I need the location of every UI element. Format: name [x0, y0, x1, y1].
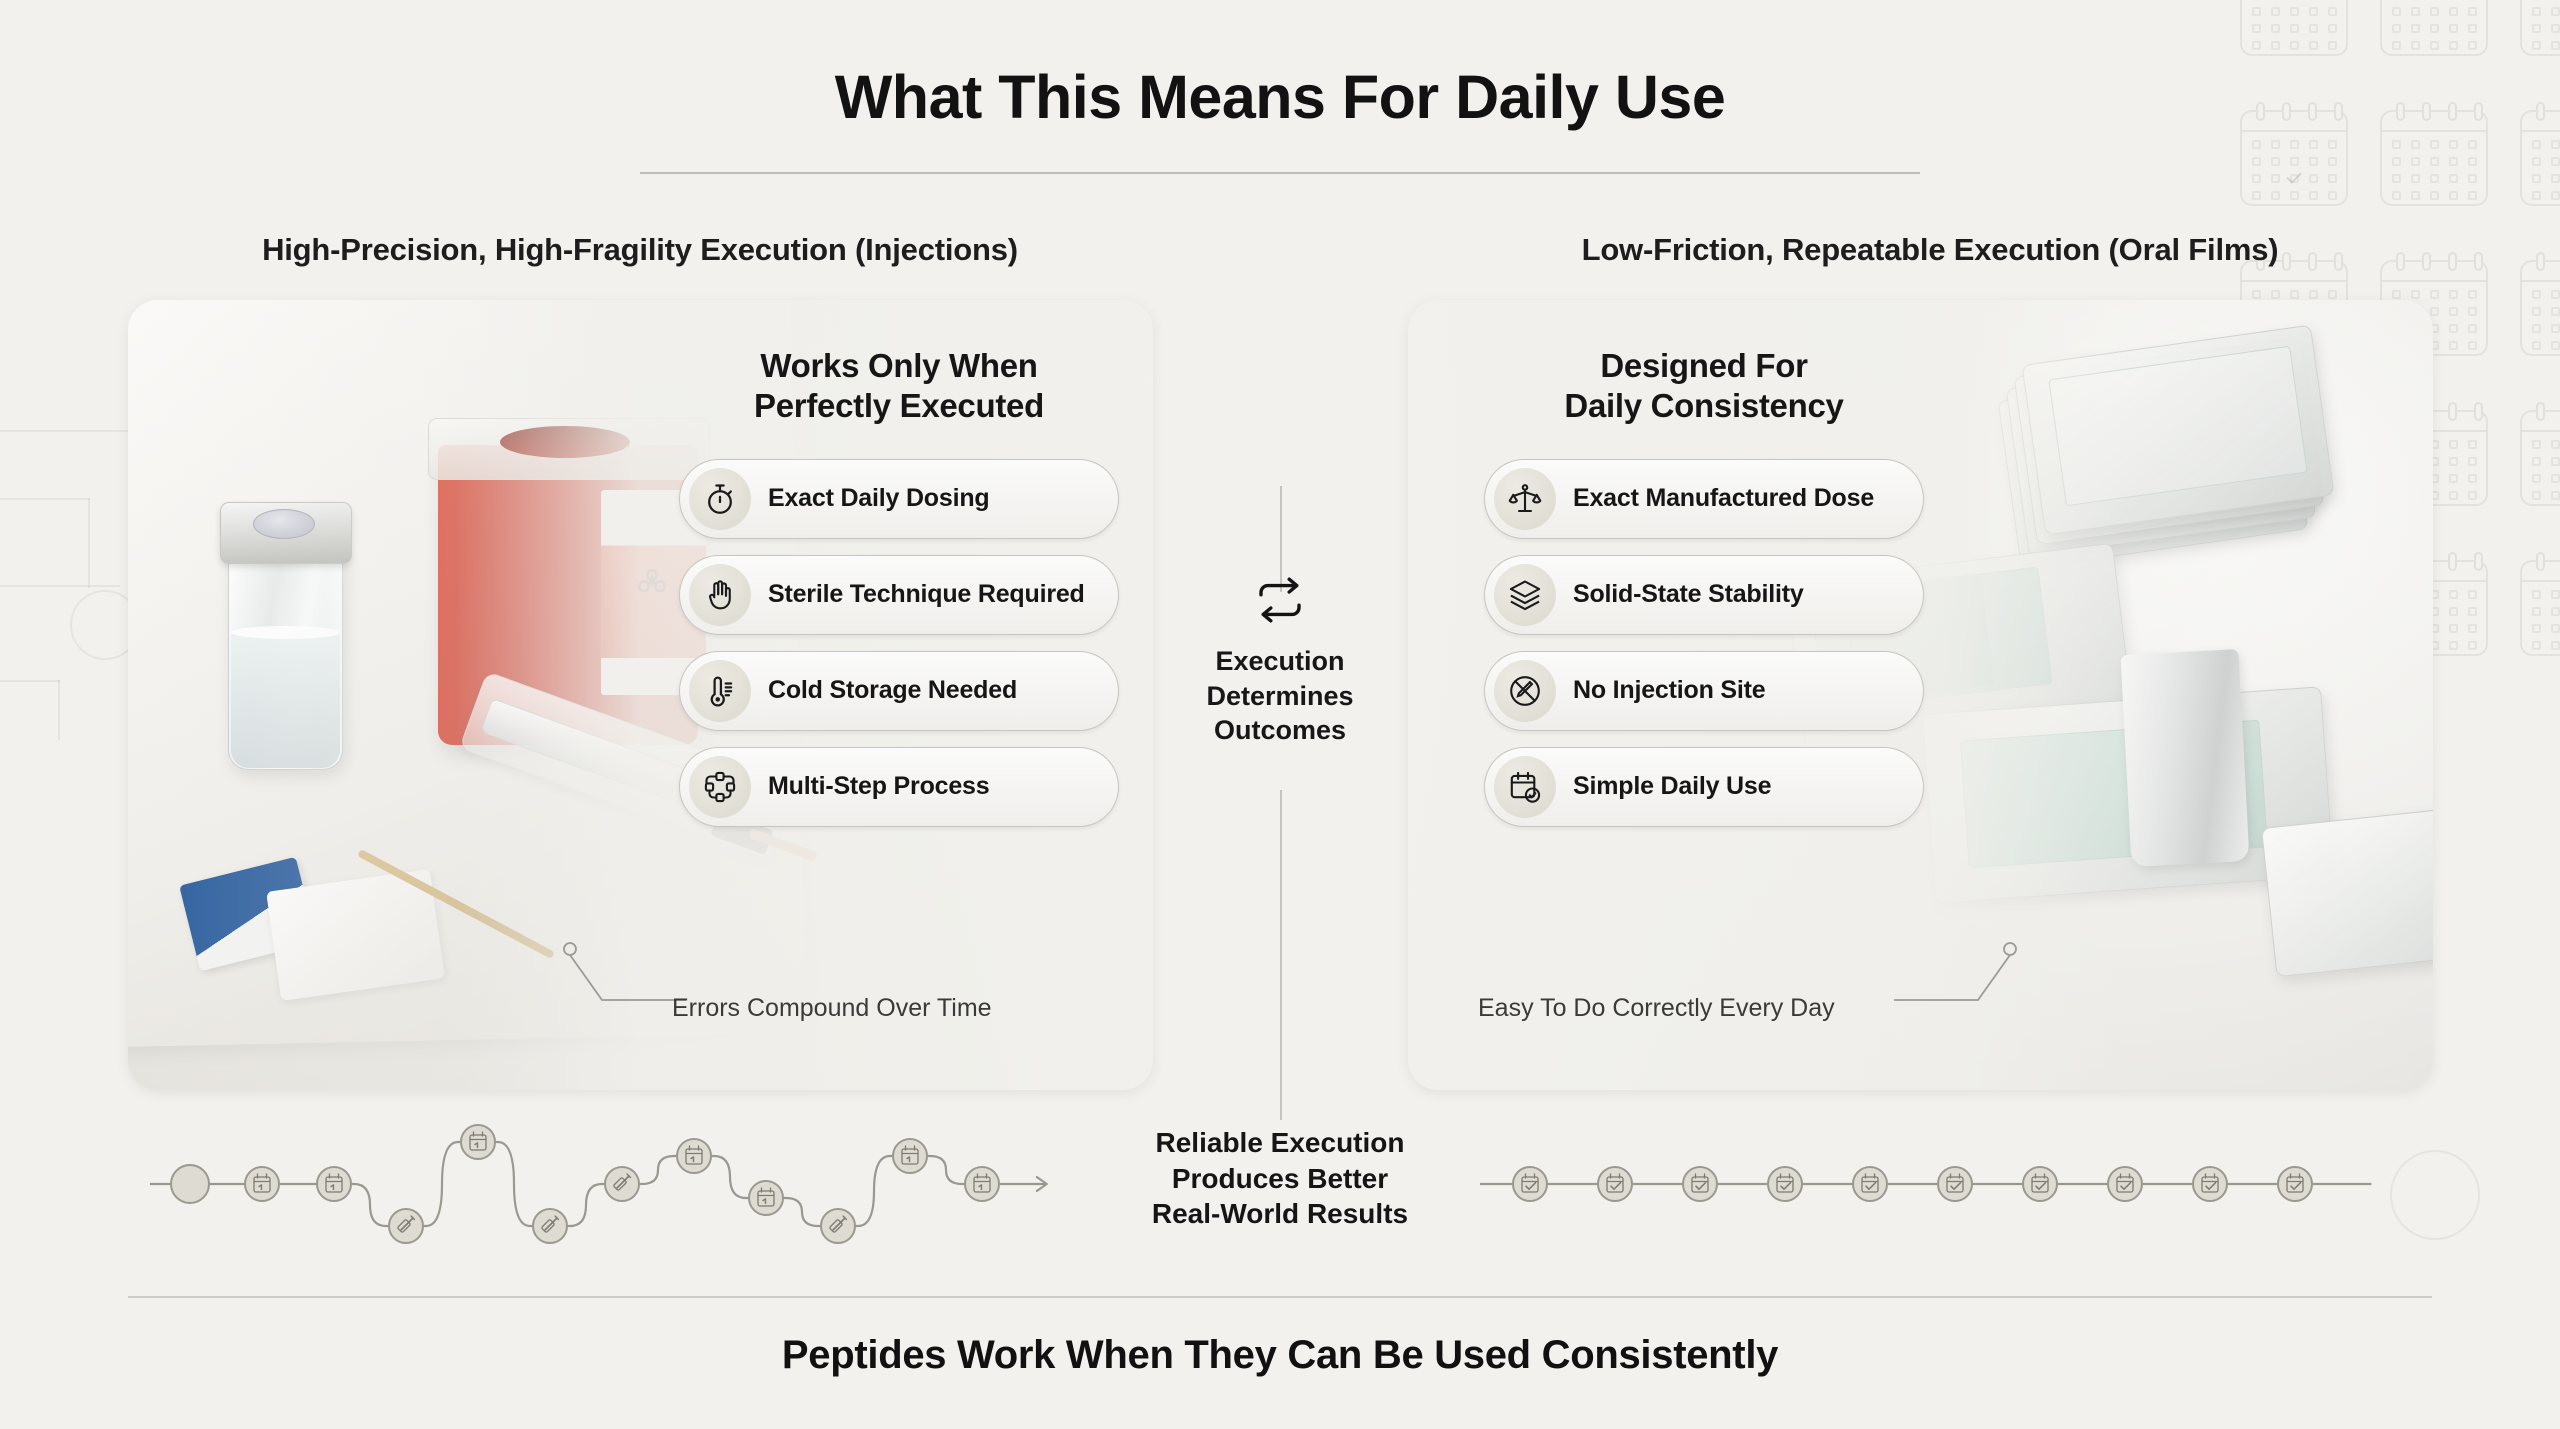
timeline-node[interactable]: [461, 1125, 495, 1159]
stopwatch-icon: [689, 468, 751, 530]
left-card-title-line2: Perfectly Executed: [679, 386, 1119, 426]
right-item-simple-daily-use[interactable]: Simple Daily Use: [1484, 747, 1924, 827]
timeline-node[interactable]: [1853, 1167, 1887, 1201]
left-timeline: [150, 1100, 1100, 1280]
layers-icon: [1494, 564, 1556, 626]
scales-icon: [1494, 468, 1556, 530]
right-item-label: Solid-State Stability: [1573, 580, 1804, 610]
watermark-calendar-icon: [2240, 0, 2348, 56]
title-divider-rule: [640, 172, 1920, 174]
right-panel-content: Designed For Daily Consistency Exact Man…: [1484, 346, 1924, 843]
timeline-node[interactable]: [893, 1139, 927, 1173]
left-item-exact-daily-dosing[interactable]: Exact Daily Dosing: [679, 459, 1119, 539]
left-item-sterile-technique[interactable]: Sterile Technique Required: [679, 555, 1119, 635]
center-line-1: Execution: [1160, 644, 1400, 679]
timeline-node[interactable]: [2278, 1167, 2312, 1201]
timeline-node[interactable]: [1768, 1167, 1802, 1201]
timeline-node[interactable]: [317, 1167, 351, 1201]
timeline-node[interactable]: [171, 1165, 209, 1203]
left-card-title: Works Only When Perfectly Executed: [679, 346, 1119, 427]
timeline-node[interactable]: [2023, 1167, 2057, 1201]
timeline-center-line-1: Reliable Execution: [1085, 1125, 1475, 1161]
right-panel-caption: Easy To Do Correctly Every Day: [1478, 994, 1835, 1023]
left-panel-caption: Errors Compound Over Time: [672, 994, 992, 1023]
timeline-node[interactable]: [389, 1209, 423, 1243]
left-column-heading: High-Precision, High-Fragility Execution…: [130, 232, 1150, 268]
right-item-label: Exact Manufactured Dose: [1573, 484, 1874, 514]
left-item-multi-step-process[interactable]: Multi-Step Process: [679, 747, 1119, 827]
no-injection-icon: [1494, 660, 1556, 722]
right-item-no-injection-site[interactable]: No Injection Site: [1484, 651, 1924, 731]
right-column-heading: Low-Friction, Repeatable Execution (Oral…: [1420, 232, 2440, 268]
watermark-line: [58, 680, 60, 740]
watermark-calendar-icon: [2520, 260, 2560, 356]
timeline-node[interactable]: [821, 1209, 855, 1243]
right-item-exact-manufactured-dose[interactable]: Exact Manufactured Dose: [1484, 459, 1924, 539]
timeline-node[interactable]: [245, 1167, 279, 1201]
hand-icon: [689, 564, 751, 626]
timeline-node[interactable]: [677, 1139, 711, 1173]
timeline-center-text: Reliable Execution Produces Better Real-…: [1085, 1125, 1475, 1232]
left-caption-leader-line: [560, 940, 690, 1010]
left-item-cold-storage[interactable]: Cold Storage Needed: [679, 651, 1119, 731]
left-item-label: Exact Daily Dosing: [768, 484, 989, 514]
calendar-check-icon: [1494, 756, 1556, 818]
timeline-node[interactable]: [2108, 1167, 2142, 1201]
footer-text: Peptides Work When They Can Be Used Cons…: [0, 1333, 2560, 1378]
process-nodes-icon: [689, 756, 751, 818]
left-item-label: Multi-Step Process: [768, 772, 989, 802]
center-divider-bottom: [1280, 790, 1282, 1120]
left-card-title-line1: Works Only When: [679, 346, 1119, 386]
right-card-title-line1: Designed For: [1484, 346, 1924, 386]
center-callout: Execution Determines Outcomes: [1160, 575, 1400, 748]
timeline-node[interactable]: [1938, 1167, 1972, 1201]
right-card-title: Designed For Daily Consistency: [1484, 346, 1924, 427]
right-timeline: [1480, 1100, 2480, 1280]
timeline-node[interactable]: [2193, 1167, 2227, 1201]
watermark-line: [0, 680, 60, 682]
watermark-line: [88, 498, 90, 588]
timeline-node[interactable]: [605, 1167, 639, 1201]
watermark-line: [0, 585, 120, 587]
center-callout-text: Execution Determines Outcomes: [1160, 644, 1400, 748]
watermark-calendar-icon: [2380, 0, 2488, 56]
right-item-solid-state-stability[interactable]: Solid-State Stability: [1484, 555, 1924, 635]
center-line-2: Determines: [1160, 679, 1400, 714]
watermark-calendar-icon: [2520, 560, 2560, 656]
center-line-3: Outcomes: [1160, 713, 1400, 748]
timeline-node[interactable]: [965, 1167, 999, 1201]
timeline-node[interactable]: [533, 1209, 567, 1243]
timeline-center-line-3: Real-World Results: [1085, 1196, 1475, 1232]
timeline-node[interactable]: [1598, 1167, 1632, 1201]
timeline-node[interactable]: [1513, 1167, 1547, 1201]
footer-divider-rule: [128, 1296, 2432, 1298]
right-item-label: No Injection Site: [1573, 676, 1765, 706]
thermometer-icon: [689, 660, 751, 722]
timeline-center-line-2: Produces Better: [1085, 1161, 1475, 1197]
left-item-label: Cold Storage Needed: [768, 676, 1017, 706]
left-item-label: Sterile Technique Required: [768, 580, 1085, 610]
right-card-title-line2: Daily Consistency: [1484, 386, 1924, 426]
watermark-line: [0, 498, 90, 500]
loop-arrows-icon: [1160, 575, 1400, 630]
page-title: What This Means For Daily Use: [0, 62, 2560, 132]
right-item-label: Simple Daily Use: [1573, 772, 1771, 802]
timeline-node[interactable]: [1683, 1167, 1717, 1201]
right-caption-leader-line: [1890, 940, 2020, 1010]
watermark-calendar-icon: [2520, 410, 2560, 506]
watermark-calendar-icon: [2520, 0, 2560, 56]
timeline-node[interactable]: [749, 1181, 783, 1215]
left-panel-content: Works Only When Perfectly Executed Exact…: [679, 346, 1119, 843]
